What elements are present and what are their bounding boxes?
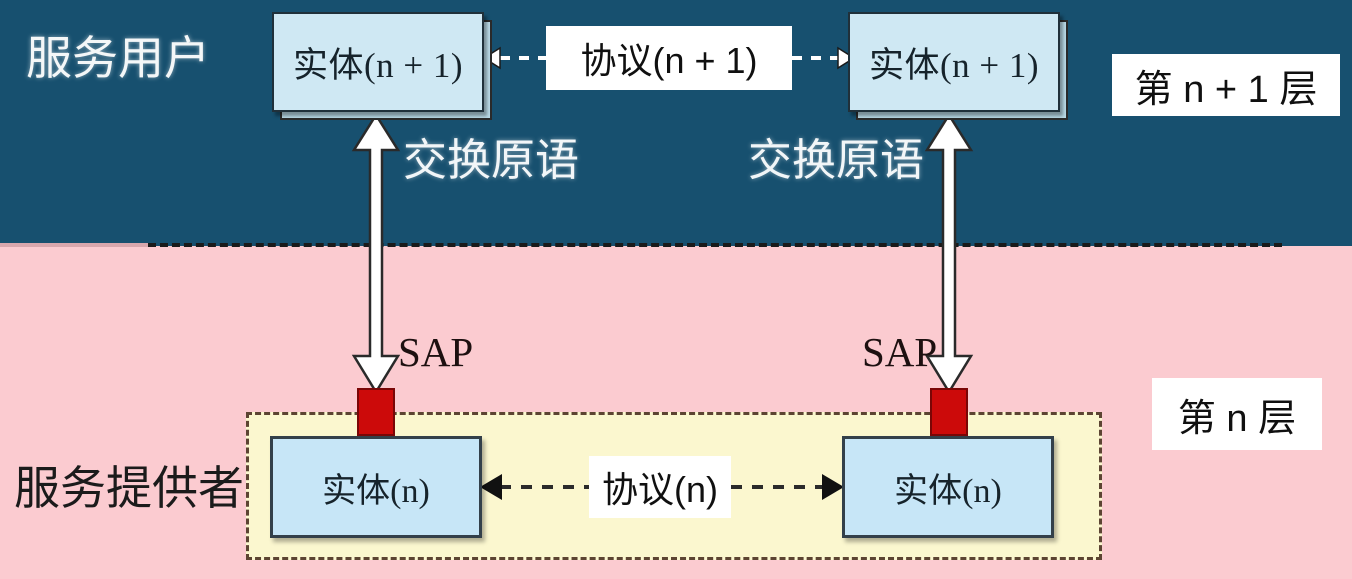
entity-box-face: 实体(n + 1) (848, 12, 1060, 112)
entity-label: 实体(n + 1) (869, 37, 1039, 88)
exchange-primitive-label-left: 交换原语 (403, 124, 579, 188)
service-user-label: 服务用户 (26, 22, 210, 88)
sap-block-left (357, 388, 395, 436)
exchange-primitive-label-right: 交换原语 (748, 124, 924, 188)
entity-box-face: 实体(n + 1) (272, 12, 484, 112)
diagram-canvas: 服务用户 服务提供者 交换原语 交换原语 SAP SAP (0, 0, 1352, 579)
protocol-label-upper: 协议(n + 1) (546, 26, 792, 90)
entity-box-lower-left[interactable]: 实体(n) (270, 436, 482, 538)
entity-box-lower-right[interactable]: 实体(n) (842, 436, 1054, 538)
entity-label: 实体(n) (894, 463, 1002, 512)
sap-block-right (930, 388, 968, 436)
band-seam (0, 243, 152, 247)
sap-label-left: SAP (398, 328, 473, 376)
service-provider-label: 服务提供者 (14, 452, 244, 518)
layer-label-upper: 第 n + 1 层 (1112, 54, 1340, 116)
sap-label-right: SAP (862, 328, 937, 376)
layer-label-lower: 第 n 层 (1152, 378, 1322, 450)
entity-box-upper-left[interactable]: 实体(n + 1) (272, 12, 484, 112)
layer-divider-line (148, 243, 1282, 247)
entity-label: 实体(n + 1) (293, 37, 463, 88)
protocol-label-lower: 协议(n) (589, 456, 731, 518)
entity-box-upper-right[interactable]: 实体(n + 1) (848, 12, 1060, 112)
entity-label: 实体(n) (322, 463, 430, 512)
